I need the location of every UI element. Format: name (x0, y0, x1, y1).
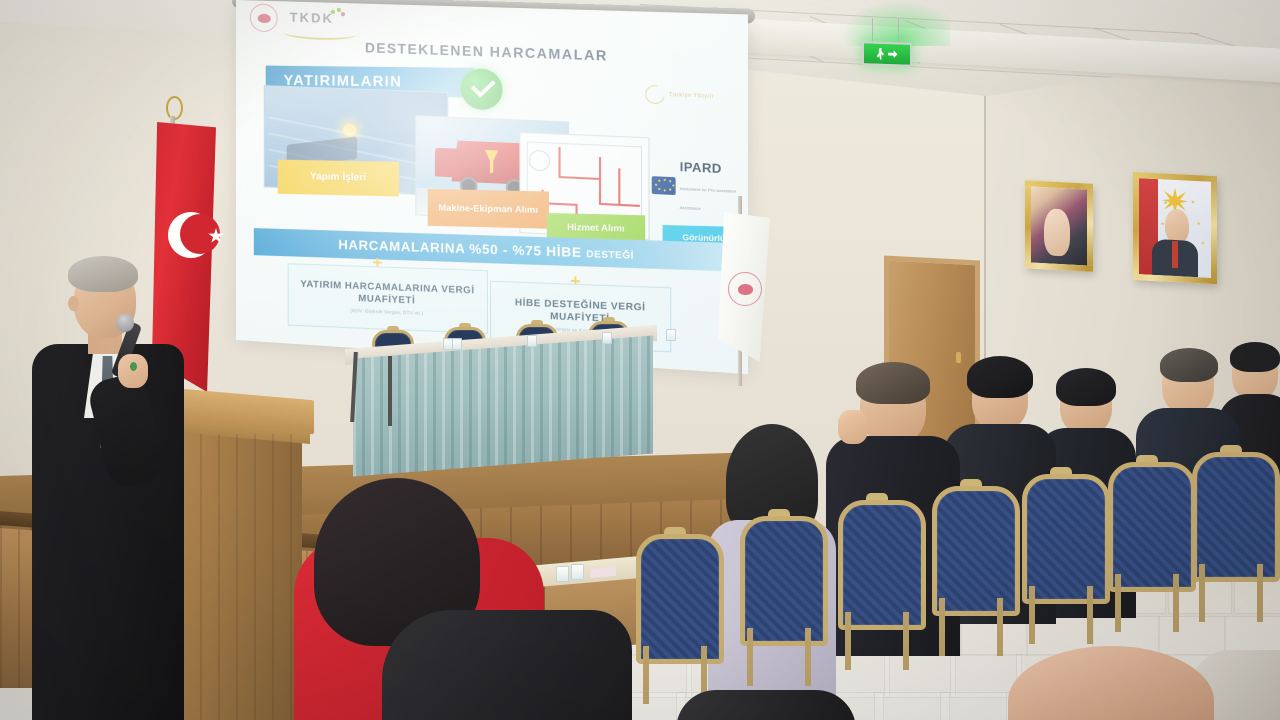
table-leg (388, 356, 392, 426)
banquet-chair[interactable] (1108, 462, 1186, 632)
exit-sign-wire-left (872, 18, 873, 44)
conference-hall-scene: TKDK DESTEKLENEN HARCAMALAR Türkiye Yüzy… (0, 0, 1280, 720)
ataturk-portrait (1025, 180, 1093, 272)
eu-flag-icon (652, 176, 676, 195)
head-table-skirt (353, 335, 653, 476)
grant-banner-suffix: DESTEĞİ (586, 249, 634, 262)
turkiye-yuzyili-logo: Türkiye Yüzyılı (645, 81, 724, 111)
banquet-chair[interactable] (932, 486, 1010, 656)
lapel-pin-icon (130, 362, 137, 371)
presenter-hair (68, 256, 138, 292)
arrow-right-icon (888, 49, 898, 59)
tkdk-logo-text: TKDK (290, 10, 334, 26)
projection-screen: TKDK DESTEKLENEN HARCAMALAR Türkiye Yüzy… (236, 0, 748, 374)
presenter-at-podium (22, 256, 202, 720)
benefit-note-investment: (KDV, Gümrük Vergisi, ÖTV vb.) (350, 308, 423, 316)
running-man-icon (877, 48, 885, 60)
tkdk-leaf-icon (331, 8, 345, 17)
ipard-subtitle: Instrument for Pre-accession Assistance (680, 187, 736, 211)
turkiye-yuzyili-label: Türkiye Yüzyılı (669, 92, 714, 100)
slide-title: DESTEKLENEN HARCAMALAR (236, 36, 748, 68)
green-check-icon (461, 68, 503, 111)
water-glass (571, 564, 584, 580)
exit-sign-wire-right (898, 18, 899, 44)
banquet-chair[interactable] (636, 534, 714, 704)
ministry-emblem-icon (250, 3, 278, 32)
water-glass (452, 338, 462, 350)
benefit-box-investment: YATIRIM HARCAMALARINA VERGİ MUAFİYETİ (K… (288, 263, 488, 334)
banquet-chair[interactable] (1192, 452, 1270, 622)
foreground-jacket (382, 610, 632, 720)
water-glass (556, 566, 569, 582)
door-handle-icon[interactable] (956, 352, 961, 363)
presentation-slide: TKDK DESTEKLENEN HARCAMALAR Türkiye Yüzy… (236, 0, 748, 374)
water-glass (527, 335, 537, 347)
banquet-chair[interactable] (1022, 474, 1100, 644)
foreground-shoulder-dark (676, 690, 856, 720)
water-glass (602, 332, 612, 344)
ipard-label: IPARD (680, 160, 722, 177)
water-glass (666, 329, 676, 341)
emergency-exit-sign (862, 41, 912, 67)
category-tag-machinery: Makine-Ekipman Alımı (428, 189, 549, 229)
benefit-title-investment: YATIRIM HARCAMALARINA VERGİ MUAFİYETİ (295, 278, 481, 310)
ministry-flag-emblem-icon (728, 272, 762, 306)
president-portrait (1133, 172, 1217, 284)
banquet-chair[interactable] (740, 516, 818, 686)
banquet-chair[interactable] (838, 500, 916, 670)
exit-sign-glow (840, 0, 950, 46)
crescent-icon (642, 82, 669, 108)
presenter-hand (118, 354, 148, 388)
ipard-logo: IPARD Instrument for Pre-accession Assis… (652, 169, 746, 205)
category-tag-construction: Yapım İşleri (278, 160, 399, 197)
audience-hand (838, 410, 868, 444)
